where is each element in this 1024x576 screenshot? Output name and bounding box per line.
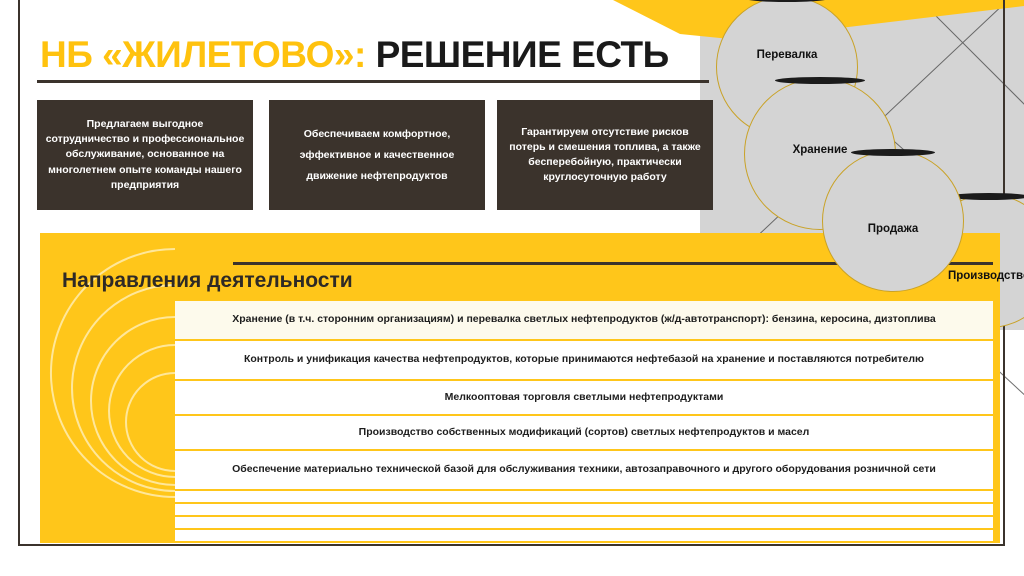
statement-text-1: Предлагаем выгодное сотрудничество и про… (37, 117, 253, 193)
slide-root: НБ «ЖИЛЕТОВО»: РЕШЕНИЕ ЕСТЬ Предлагаем в… (0, 0, 1024, 576)
list-item-text: Обеспечение материально технической базо… (222, 462, 946, 478)
list-item-empty (175, 517, 993, 530)
circle-cap-icon (851, 149, 935, 156)
list-item: Контроль и унификация качества нефтепрод… (175, 341, 993, 381)
page-title-rest: РЕШЕНИЕ ЕСТЬ (366, 34, 669, 75)
list-item-empty (175, 530, 993, 543)
list-item: Мелкооптовая торговля светлыми нефтепрод… (175, 381, 993, 416)
list-item-text: Контроль и унификация качества нефтепрод… (234, 352, 934, 368)
circle-prodazha: Продажа (822, 150, 964, 292)
statement-box-3: Гарантируем отсутствие рисков потерь и с… (497, 100, 713, 210)
circle-label-proizvodstvo: Производство (948, 270, 1024, 282)
directions-list: Хранение (в т.ч. сторонним организациям)… (175, 301, 993, 543)
circle-cap-icon (745, 0, 829, 2)
statement-text-3: Гарантируем отсутствие рисков потерь и с… (497, 125, 713, 186)
list-item-text: Производство собственных модификаций (со… (349, 425, 820, 441)
page-title: НБ «ЖИЛЕТОВО»: РЕШЕНИЕ ЕСТЬ (40, 36, 669, 73)
list-item-empty (175, 491, 993, 504)
list-item: Хранение (в т.ч. сторонним организациям)… (175, 301, 993, 341)
title-divider (37, 80, 709, 83)
statement-box-1: Предлагаем выгодное сотрудничество и про… (37, 100, 253, 210)
list-item-text: Хранение (в т.ч. сторонним организациям)… (222, 312, 945, 328)
circle-label-hranenie: Хранение (793, 144, 848, 156)
list-item: Производство собственных модификаций (со… (175, 416, 993, 451)
statement-text-2: Обеспечиваем комфортное, эффективное и к… (269, 124, 485, 187)
circle-cap-icon (775, 77, 865, 84)
list-item-text: Мелкооптовая торговля светлыми нефтепрод… (435, 390, 734, 406)
statement-box-2: Обеспечиваем комфортное, эффективное и к… (269, 100, 485, 210)
circle-label-perevalka: Перевалка (757, 49, 818, 61)
circle-label-prodazha: Продажа (868, 223, 919, 235)
page-title-accent: НБ «ЖИЛЕТОВО»: (40, 34, 366, 75)
panel-heading: Направления деятельности (62, 269, 353, 293)
list-item: Обеспечение материально технической базо… (175, 451, 993, 491)
list-item-empty (175, 504, 993, 517)
